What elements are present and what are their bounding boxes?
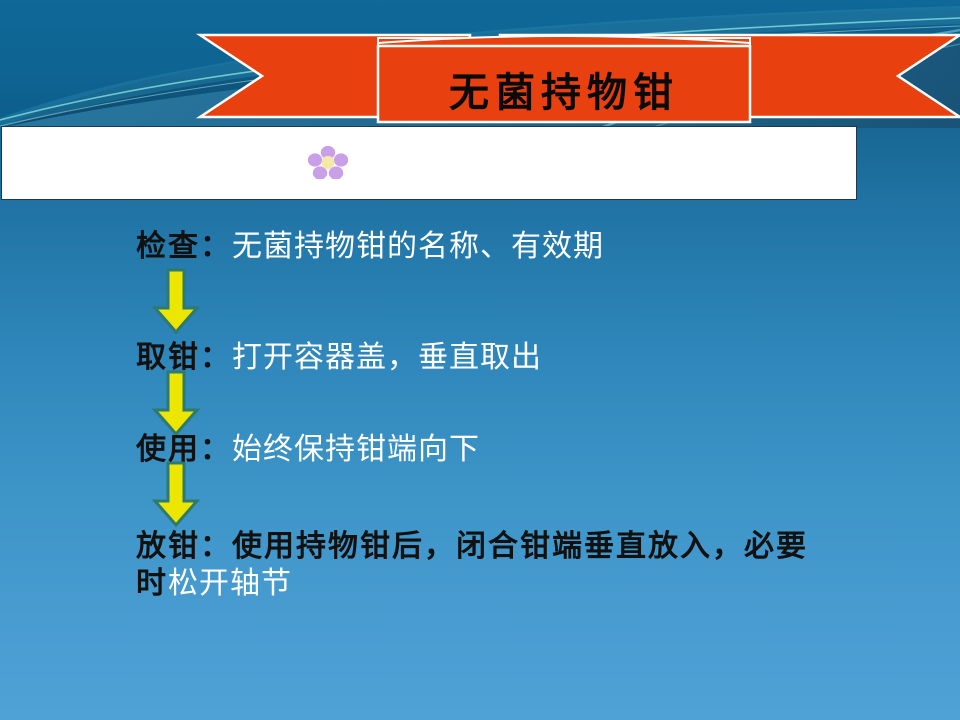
step-2-text: 打开容器盖，垂直取出 [232,341,542,374]
step-item-3: 使用：始终保持钳端向下 [136,424,480,468]
steps-list: 检查：无菌持物钳的名称、有效期 取钳：打开容器盖，垂直取出 使用：始终保持钳端向… [0,0,960,720]
step-4-key: 放钳： [136,530,232,563]
step-item-4: 放钳：使用持物钳后，闭合钳端垂直放入，必要时松开轴节 [136,529,816,602]
step-1-text: 无菌持物钳的名称、有效期 [232,230,604,263]
step-3-key: 使用： [136,433,232,466]
slide: 无菌持物钳 检 [0,0,960,720]
step-item-2: 取钳：打开容器盖，垂直取出 [136,332,542,376]
step-4-tail: 松开轴节 [168,567,292,600]
step-item-1: 检查：无菌持物钳的名称、有效期 [136,221,604,265]
step-3-text: 始终保持钳端向下 [232,433,480,466]
step-2-key: 取钳： [136,341,232,374]
step-1-key: 检查： [136,230,232,263]
